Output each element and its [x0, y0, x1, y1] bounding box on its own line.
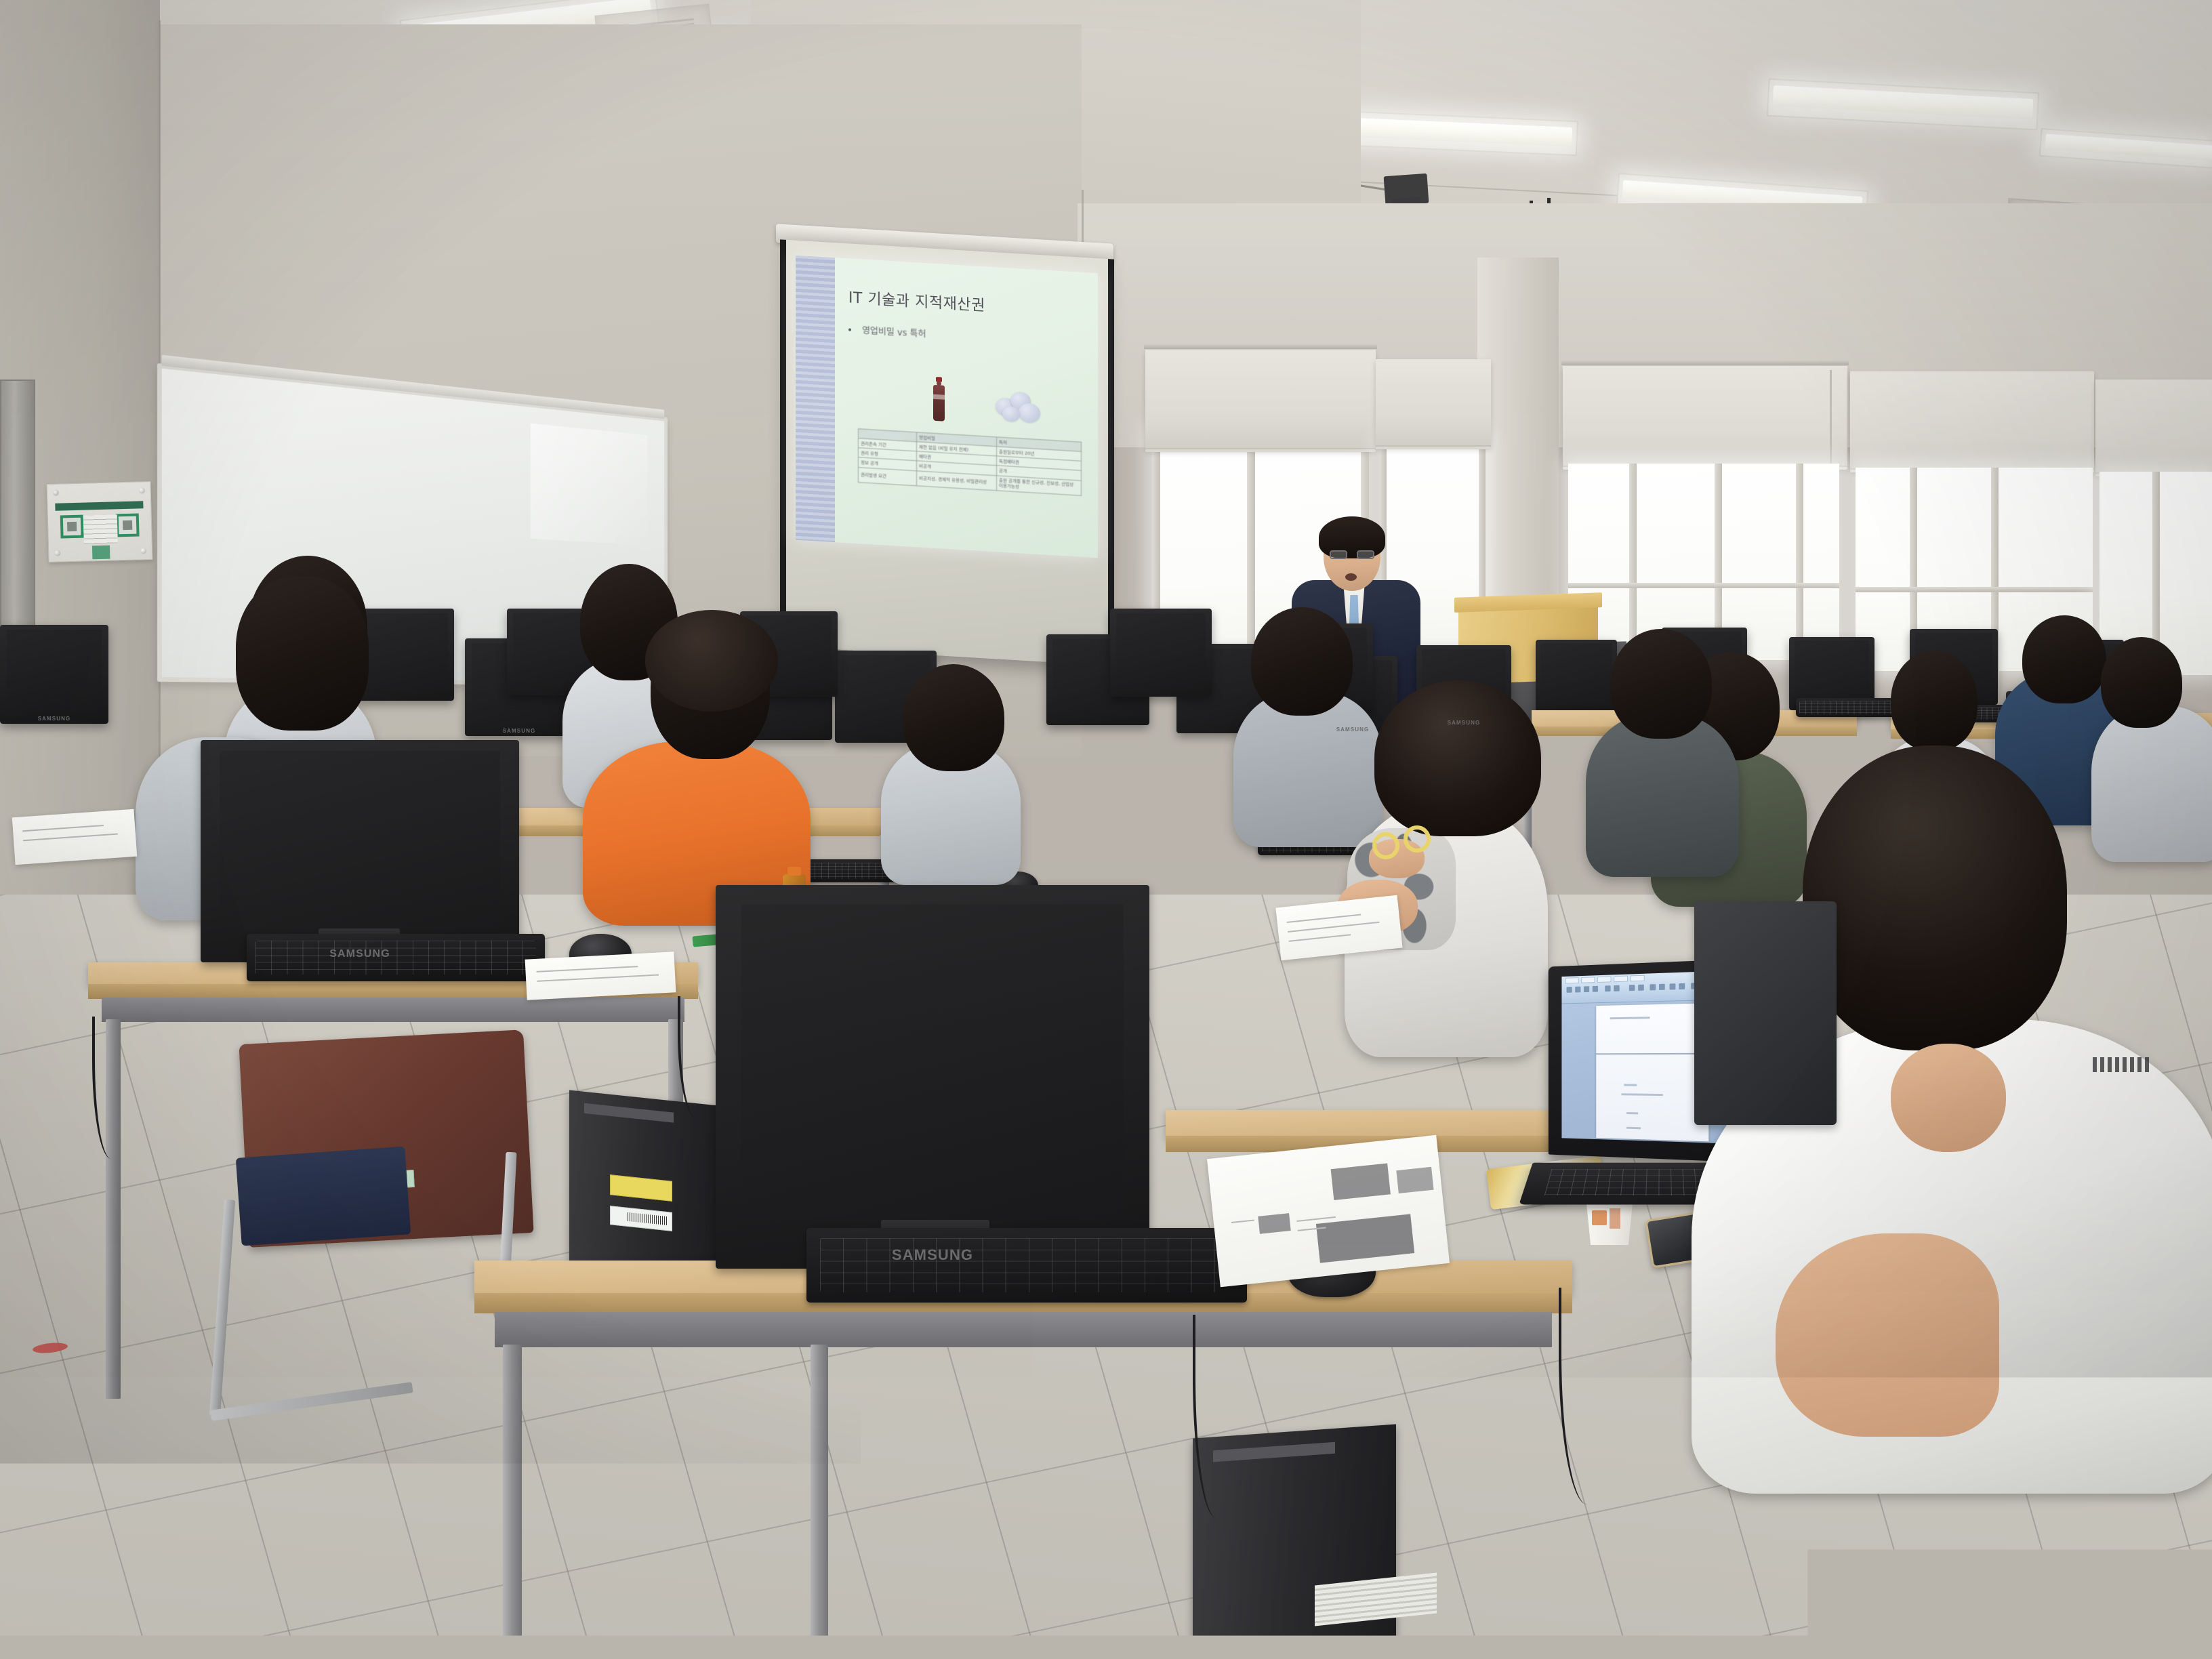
paper-handout — [1207, 1135, 1450, 1287]
shirt-logo — [2093, 1057, 2151, 1072]
wall-plaque — [47, 481, 153, 562]
monitor-brand-logo: SAMSUNG — [38, 716, 71, 722]
slide-bullet-text: 영업비밀 vs 특허 — [862, 323, 926, 340]
desk-leg — [503, 1345, 522, 1659]
attendee-head — [1251, 607, 1353, 716]
window-transom — [1568, 583, 1839, 588]
attendee-trousers — [1613, 1416, 2212, 1659]
eyeglasses-icon — [1330, 550, 1374, 559]
attendee-head — [1374, 680, 1541, 836]
projected-slide: IT 기술과 지적재산권 영업비밀 vs 특허 — [796, 255, 1098, 558]
desk-leg — [811, 1345, 828, 1659]
attendee-head — [903, 664, 1004, 771]
desk-apron — [495, 1312, 1552, 1347]
keyboard[interactable] — [806, 1228, 1247, 1303]
window-blind — [2095, 380, 2212, 474]
monitor — [1110, 609, 1212, 697]
plaque-header-bar — [55, 501, 143, 510]
slide-sidebar-graphic — [796, 255, 835, 542]
window-blind — [1145, 350, 1376, 450]
attendee-arm — [1776, 1233, 1999, 1437]
plaque-text-block — [83, 514, 118, 544]
slide-title: IT 기술과 지적재산권 — [848, 285, 985, 315]
attendee-hair — [645, 610, 778, 712]
blind-rail — [1144, 344, 1377, 349]
classroom-photo: IT 기술과 지적재산권 영업비밀 vs 특허 — [0, 0, 2212, 1659]
paper-handout — [12, 809, 137, 865]
keyboard[interactable] — [247, 934, 545, 981]
screw-icon — [54, 550, 60, 556]
screen-surface: IT 기술과 지적재산권 영업비밀 vs 특허 — [786, 240, 1108, 665]
chair-seat[interactable] — [236, 1146, 411, 1246]
monitor-brand-logo: SAMSUNG — [503, 728, 536, 734]
document-page — [1596, 1003, 1708, 1141]
window-mullion — [1796, 464, 1803, 660]
attendee-head — [2101, 637, 2182, 728]
slide-comparison-table: 영업비밀 특허 권리존속 기간 제한 없음 (비밀 유지 전제) 출원일로부터 … — [858, 428, 1082, 495]
attendee-torso — [2091, 706, 2212, 862]
attendee-head — [1803, 745, 2067, 1050]
window-mullion — [1247, 431, 1255, 675]
wall-metal-panel — [0, 380, 35, 637]
projection-screen: IT 기술과 지적재산권 영업비밀 vs 특허 — [786, 240, 1108, 665]
blind-rail — [1561, 361, 1849, 365]
slide-bullet-marker — [848, 328, 851, 331]
monitor: SAMSUNG — [716, 885, 1149, 1269]
instructor-mouth — [1345, 573, 1357, 581]
pill-cluster-image — [996, 390, 1043, 424]
attendee-head — [1610, 629, 1712, 739]
monitor: SAMSUNG — [0, 625, 108, 724]
window-blind — [1563, 366, 1847, 468]
attendee-hand — [1891, 1044, 2006, 1152]
monitor-brand-logo: SAMSUNG — [1336, 726, 1370, 733]
cola-bottle-image — [933, 377, 945, 422]
attendee-head — [2022, 615, 2106, 703]
window-blind — [1850, 371, 2094, 470]
screw-icon — [53, 490, 59, 496]
attendee-torso — [1586, 714, 1739, 877]
monitor — [1536, 640, 1617, 712]
screw-icon — [140, 548, 146, 554]
attendee-head — [1891, 651, 1978, 751]
plaque-badge-icon — [92, 546, 110, 560]
monitor-brand-logo: SAMSUNG — [1448, 720, 1481, 726]
chair-back[interactable] — [1694, 901, 1837, 1125]
plaque-chip-icon — [116, 513, 140, 537]
monitor-brand-logo: SAMSUNG — [329, 948, 390, 960]
window-transom — [1856, 587, 2093, 592]
monitor-brand-logo: SAMSUNG — [892, 1246, 973, 1264]
desk-apron — [102, 998, 684, 1022]
screen-edge-right — [1108, 259, 1114, 666]
paper-handout — [525, 951, 676, 1000]
yellow-eyeglasses — [1372, 825, 1431, 866]
attendee-head — [236, 576, 369, 731]
window-mullion — [1629, 464, 1637, 660]
screen-edge-left — [780, 239, 786, 647]
plaque-chip-icon — [60, 515, 84, 539]
screw-icon — [139, 487, 145, 493]
window-blind — [1376, 359, 1491, 447]
